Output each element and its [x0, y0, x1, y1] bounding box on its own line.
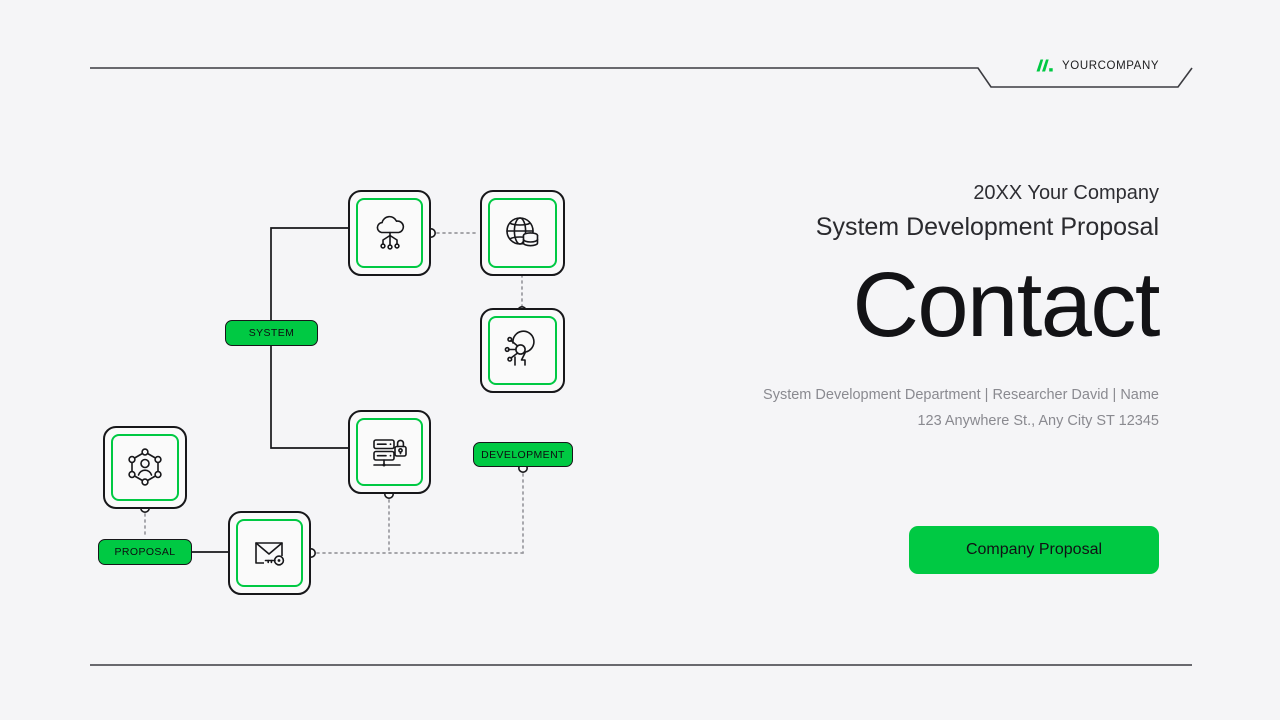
user-network-icon — [121, 444, 169, 492]
card-user-network[interactable] — [103, 426, 187, 509]
contact-line-department: System Development Department | Research… — [539, 383, 1159, 408]
card-server-inner — [356, 418, 423, 486]
cta-row: Company Proposal — [539, 526, 1159, 574]
slide-root: YOURCOMPANY — [0, 0, 1280, 720]
chip-proposal[interactable]: PROPOSAL — [98, 539, 192, 565]
card-cloud-computing[interactable] — [348, 190, 431, 276]
card-mail-inner — [236, 519, 303, 587]
chip-system[interactable]: SYSTEM — [225, 320, 318, 346]
card-secure-mail[interactable] — [228, 511, 311, 595]
email-key-icon — [246, 529, 294, 577]
card-user-inner — [111, 434, 179, 501]
brand-name: YOURCOMPANY — [1062, 60, 1159, 72]
subtitle-text: System Development Proposal — [539, 212, 1159, 243]
content-column: 20XX Your Company System Development Pro… — [539, 180, 1159, 574]
company-proposal-button[interactable]: Company Proposal — [909, 526, 1159, 574]
contact-block: System Development Department | Research… — [539, 383, 1159, 434]
connector-system-to-cloud — [271, 228, 348, 325]
secure-server-icon — [366, 428, 414, 476]
chip-system-label: SYSTEM — [249, 327, 295, 339]
connector-system-to-server — [271, 341, 348, 448]
brand-logo: YOURCOMPANY — [1035, 58, 1159, 74]
card-cloud-inner — [356, 198, 423, 268]
chip-proposal-label: PROPOSAL — [115, 546, 176, 558]
leaf-mark-icon — [1035, 58, 1055, 74]
card-secure-server[interactable] — [348, 410, 431, 494]
eyebrow-text: 20XX Your Company — [539, 180, 1159, 206]
page-title: Contact — [539, 259, 1159, 351]
contact-line-address: 123 Anywhere St., Any City ST 12345 — [539, 409, 1159, 434]
cloud-computing-icon — [366, 209, 414, 257]
